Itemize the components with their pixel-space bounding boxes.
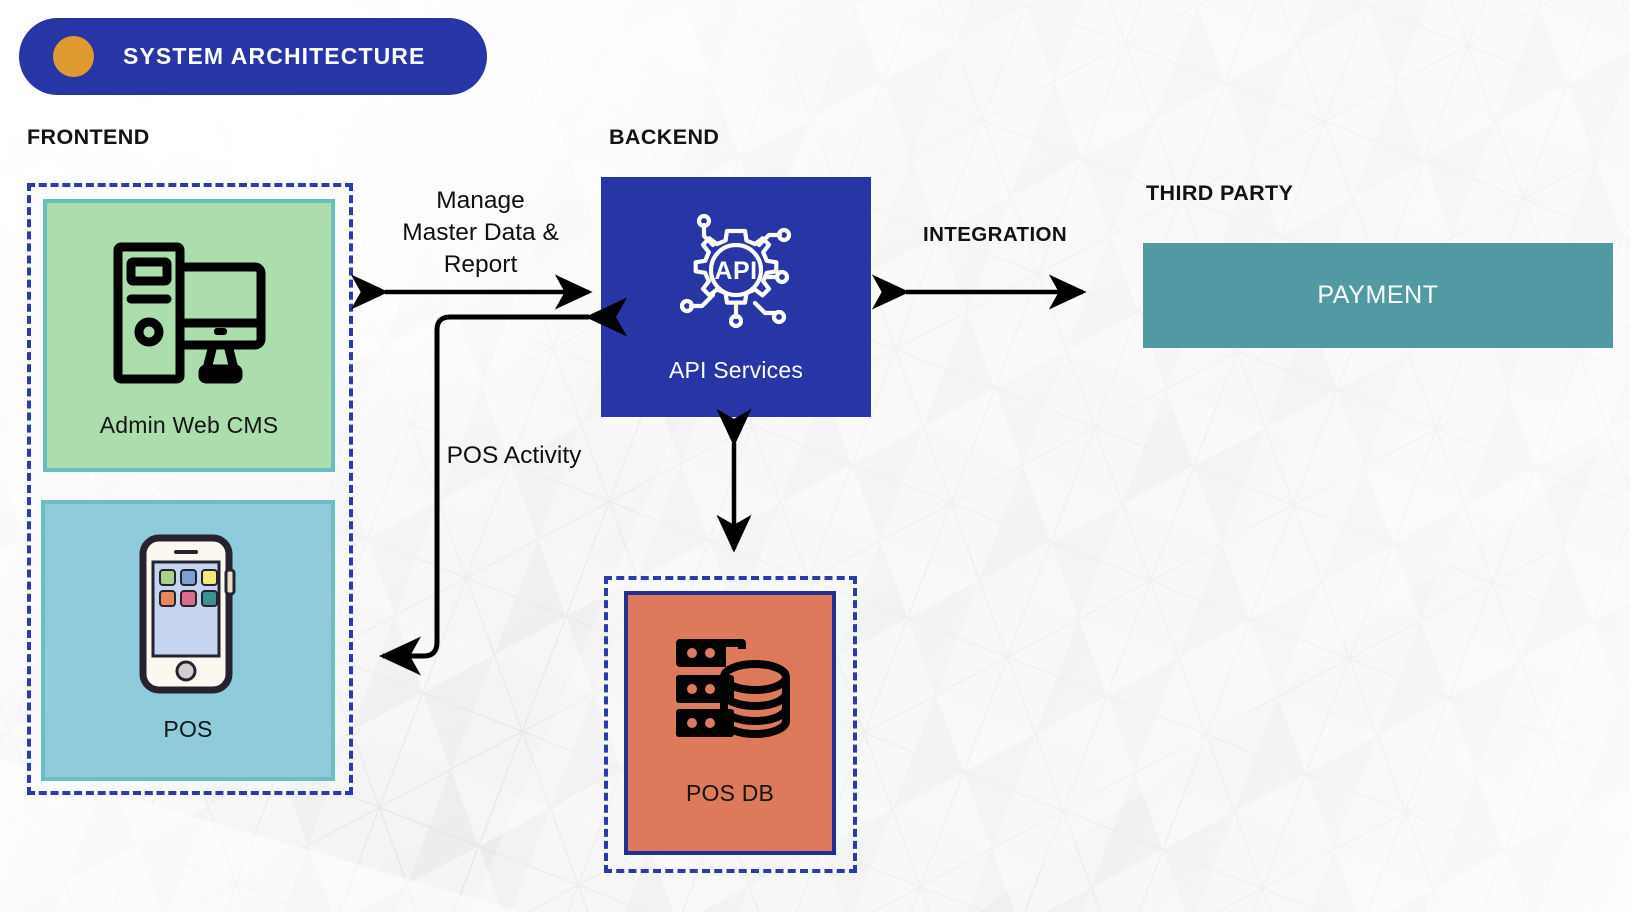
- node-label: API Services: [601, 357, 871, 384]
- svg-text:API: API: [714, 257, 757, 285]
- orange-dot-icon: [53, 36, 94, 77]
- architecture-diagram-canvas: SYSTEM ARCHITECTURE FRONTEND BACKEND THI…: [0, 0, 1630, 912]
- system-architecture-header-pill: SYSTEM ARCHITECTURE: [19, 18, 487, 95]
- node-pos[interactable]: POS: [41, 500, 335, 781]
- backend-section-caption: BACKEND: [609, 125, 719, 150]
- node-label: Admin Web CMS: [47, 412, 331, 439]
- node-label: POS: [45, 716, 331, 743]
- node-label: POS DB: [628, 780, 832, 807]
- node-label: PAYMENT: [1143, 281, 1613, 310]
- node-pos-db[interactable]: POS DB: [624, 591, 836, 855]
- page-title: SYSTEM ARCHITECTURE: [123, 43, 425, 70]
- node-payment[interactable]: PAYMENT: [1143, 243, 1613, 348]
- frontend-section-caption: FRONTEND: [27, 125, 150, 150]
- manage-master-data-label: Manage Master Data & Report: [378, 185, 583, 281]
- third-party-section-caption: THIRD PARTY: [1146, 181, 1293, 206]
- desktop-computer-icon: [47, 235, 331, 387]
- node-admin-web-cms[interactable]: Admin Web CMS: [43, 199, 335, 472]
- integration-connector-label: INTEGRATION: [923, 223, 1067, 247]
- api-gear-icon: API: [601, 207, 871, 333]
- node-api-services[interactable]: API API Services: [601, 177, 871, 417]
- mobile-phone-icon: [45, 534, 331, 694]
- pos-activity-label: POS Activity: [410, 440, 618, 472]
- database-server-icon: [628, 633, 832, 745]
